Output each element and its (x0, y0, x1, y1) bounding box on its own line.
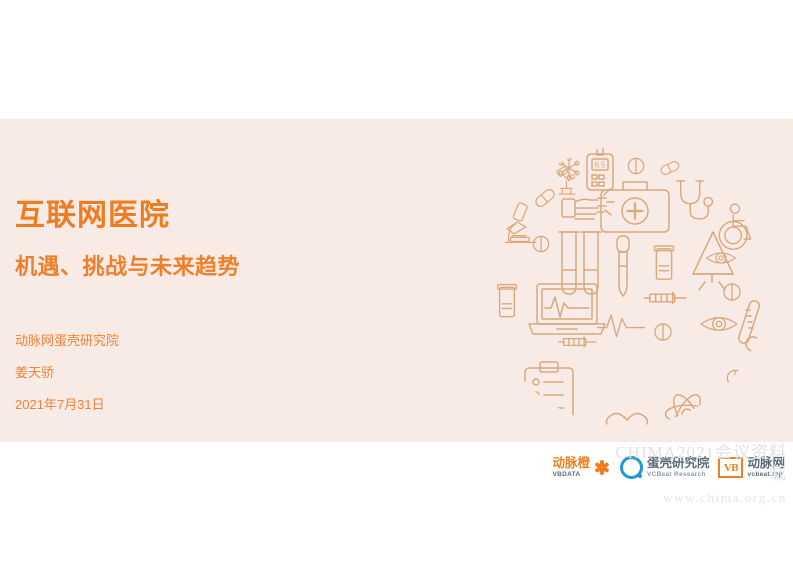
vcbeat-research-logo: 蛋壳研究院 VCBeat Research (620, 456, 710, 479)
sunburst-icon (594, 459, 611, 476)
meta-date: 2021年7月31日 (15, 398, 445, 411)
logo-bar: 动脉橙 VBDATA 蛋壳研究院 VCBeat Research VB (552, 456, 785, 479)
vbeat-logo-en: vcbeat.top (747, 472, 785, 479)
vbdata-logo: 动脉橙 VBDATA (552, 457, 611, 478)
vcbeat-logo-cn: 蛋壳研究院 (647, 457, 710, 470)
page-subtitle: 机遇、挑战与未来趋势 (15, 254, 445, 280)
ring-icon (620, 456, 643, 479)
footer-bar: 动脉橙 VBDATA 蛋壳研究院 VCBeat Research VB (0, 442, 793, 561)
meta-author: 姜天骄 (15, 366, 445, 379)
vb-box-icon: VB (718, 457, 743, 478)
vbeat-logo-cn: 动脉网 (747, 457, 785, 470)
title-block: 互联网医院 机遇、挑战与未来趋势 动脉网蛋壳研究院 姜天骄 2021年7月31日 (15, 199, 445, 411)
medical-icons-circle-illustration: 6.5 (487, 146, 767, 426)
meta-organization: 动脉网蛋壳研究院 (15, 334, 445, 347)
vbdata-logo-text: 动脉橙 VBDATA (552, 457, 590, 478)
page-title: 互联网医院 (15, 199, 445, 234)
vbeat-logo-text: 动脉网 vcbeat.top (747, 457, 785, 478)
svg-text:6.5: 6.5 (594, 161, 606, 170)
vbdata-logo-en: VBDATA (552, 472, 590, 479)
vcbeat-logo-en: VCBeat Research (647, 472, 710, 479)
vbdata-logo-cn: 动脉橙 (552, 457, 590, 470)
vcbeat-logo-text: 蛋壳研究院 VCBeat Research (647, 457, 710, 478)
vbeat-logo: VB 动脉网 vcbeat.top (718, 457, 785, 478)
slide-canvas: 互联网医院 机遇、挑战与未来趋势 动脉网蛋壳研究院 姜天骄 2021年7月31日 (0, 119, 793, 442)
